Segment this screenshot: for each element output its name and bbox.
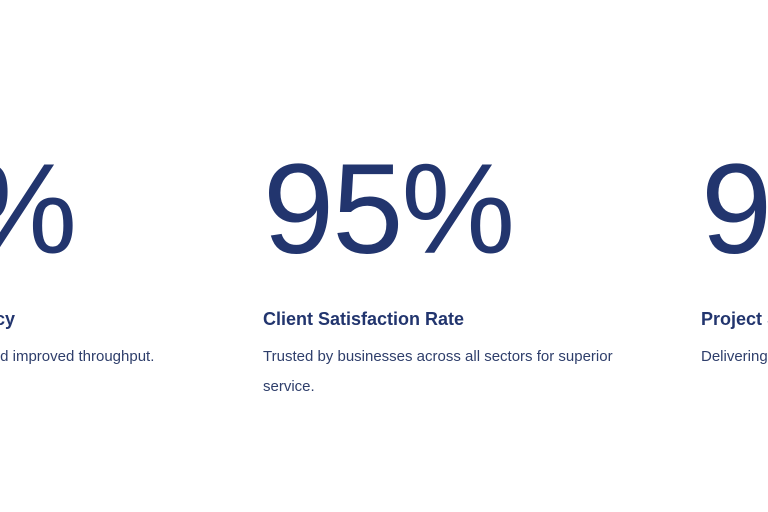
stat-label: Project Success Rate <box>701 307 768 331</box>
stat-label: Client Satisfaction Rate <box>263 307 701 331</box>
stat-description: Trusted by businesses across all sectors… <box>263 342 623 402</box>
stats-section: 99% Operational Efficiency Streamlined o… <box>0 0 768 512</box>
stats-track: 99% Operational Efficiency Streamlined o… <box>0 0 768 512</box>
stat-label: Operational Efficiency <box>0 307 263 331</box>
stat-description: Delivering results on time with seamless… <box>701 342 768 372</box>
stat-value: 95% <box>263 146 701 274</box>
stat-value: 98% <box>701 146 768 274</box>
stat-card-client-satisfaction-rate: 95% Client Satisfaction Rate Trusted by … <box>263 0 701 402</box>
stat-card-operational-efficiency: 99% Operational Efficiency Streamlined o… <box>0 0 263 372</box>
stat-value: 99% <box>0 146 263 274</box>
stat-card-project-success-rate: 98% Project Success Rate Delivering resu… <box>701 0 768 372</box>
stat-description: Streamlined operations and improved thro… <box>0 342 185 372</box>
